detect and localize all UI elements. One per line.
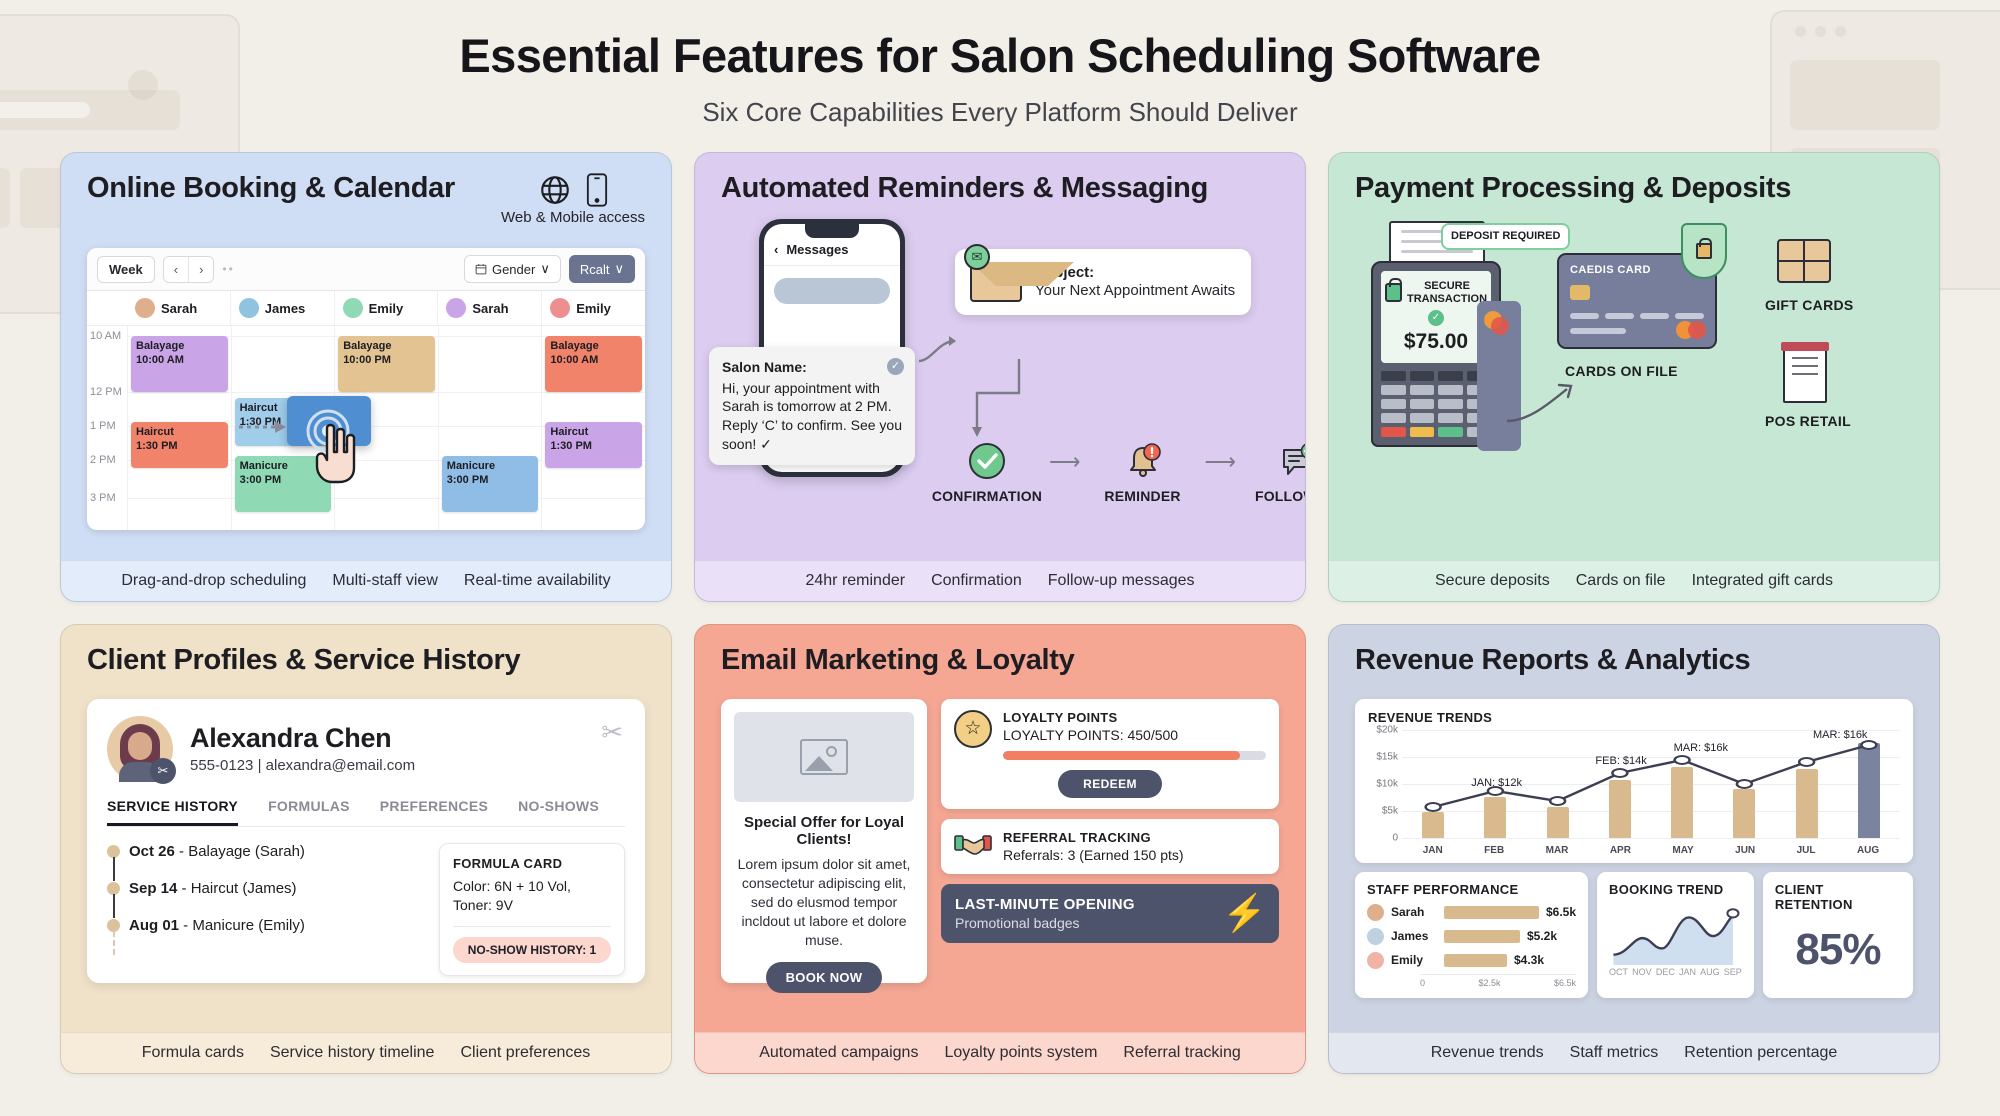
- axis-tick: AUG: [1700, 967, 1720, 977]
- mobile-phone-icon: [586, 173, 608, 207]
- y-tick: 0: [1392, 832, 1398, 843]
- event-time: 3:00 PM: [447, 474, 489, 486]
- event-time: 1:30 PM: [136, 440, 178, 452]
- card-body: Special Offer for Loyal Clients! Lorem i…: [695, 683, 1305, 1032]
- separator: |: [258, 757, 262, 774]
- client-phone: 555-0123: [190, 757, 253, 774]
- time-label: 1 PM: [90, 420, 116, 432]
- chevron-down-icon: ∨: [540, 261, 550, 277]
- card-footer: 24hr reminder Confirmation Follow-up mes…: [695, 560, 1305, 601]
- redeem-button[interactable]: REDEEM: [1058, 770, 1162, 798]
- secure-transaction-label: SECURE TRANSACTION: [1407, 280, 1487, 305]
- connector-arrow-down-icon: [963, 359, 1023, 445]
- flow-step-confirmation: CONFIRMATION: [941, 441, 1033, 504]
- y-tick: $5k: [1382, 805, 1398, 816]
- footer-tag: Referral tracking: [1123, 1044, 1240, 1062]
- next-button[interactable]: ›: [188, 257, 213, 282]
- tab-service-history[interactable]: SERVICE HISTORY: [107, 798, 238, 826]
- x-tick: AUG: [1857, 845, 1879, 856]
- axis-tick: SEP: [1724, 967, 1742, 977]
- x-tick: APR: [1610, 845, 1631, 856]
- axis-tick: NOV: [1632, 967, 1652, 977]
- calendar-staff-header: Sarah James Emily Sarah Emily: [87, 291, 645, 326]
- referral-subtitle: Referrals: 3 (Earned 150 pts): [1003, 847, 1266, 863]
- footer-tag: Client preferences: [460, 1044, 590, 1062]
- tab-preferences[interactable]: PREFERENCES: [380, 798, 488, 826]
- card-title: Client Profiles & Service History: [87, 645, 520, 677]
- card-footer: Automated campaigns Loyalty points syste…: [695, 1032, 1305, 1073]
- avatar: [446, 298, 466, 318]
- booking-trend-widget: BOOKING TREND OCT NOV DEC: [1597, 872, 1754, 998]
- footer-tag: Service history timeline: [270, 1044, 435, 1062]
- feature-card-automated-reminders: Automated Reminders & Messaging ‹ Messag…: [694, 152, 1306, 602]
- axis-tick: JAN: [1679, 967, 1696, 977]
- pos-receipt-icon: [1783, 349, 1827, 403]
- staff-value: $5.2k: [1527, 929, 1557, 943]
- feature-card-revenue-analytics: Revenue Reports & Analytics REVENUE TREN…: [1328, 624, 1940, 1074]
- avatar: [1367, 952, 1384, 969]
- realt-label: Rcalt: [580, 262, 610, 277]
- event-time: 10:00 AM: [550, 354, 598, 366]
- calendar-widget: Week ‹ › •• Gender ∨ Rcalt ∨: [87, 248, 645, 530]
- flow-label: FOLLOW-UP: [1255, 488, 1305, 504]
- card-header: Email Marketing & Loyalty: [695, 625, 1305, 683]
- message-bubble-placeholder: [774, 278, 890, 304]
- x-tick: MAY: [1672, 845, 1693, 856]
- flow-label: CONFIRMATION: [932, 488, 1042, 504]
- prev-button[interactable]: ‹: [164, 257, 188, 282]
- calendar-column: Balayage 10:00 AM Haircut 1:30 PM: [541, 326, 645, 530]
- card-body: Week ‹ › •• Gender ∨ Rcalt ∨: [61, 232, 671, 560]
- staff-column-3[interactable]: Sarah: [437, 291, 541, 325]
- client-name: Alexandra Chen: [190, 723, 415, 754]
- time-label: 2 PM: [90, 454, 116, 466]
- sms-delivered-icon: ✓: [887, 358, 904, 375]
- footer-tag: Multi-staff view: [332, 572, 438, 590]
- green-check-badge-icon: [967, 441, 1007, 481]
- calendar-nav[interactable]: ‹ ›: [163, 256, 215, 283]
- card-header: Automated Reminders & Messaging: [695, 153, 1305, 211]
- footer-tag: Drag-and-drop scheduling: [121, 572, 306, 590]
- realt-dropdown[interactable]: Rcalt ∨: [569, 255, 635, 283]
- cards-on-file-label: CARDS ON FILE: [1565, 363, 1678, 379]
- access-icons: Web & Mobile access: [501, 173, 645, 226]
- service-history-timeline: Oct 26 - Balayage (Sarah) Sep 14 - Hairc…: [107, 843, 419, 976]
- footer-tag: Revenue trends: [1431, 1044, 1544, 1062]
- event-time: 3:00 PM: [240, 474, 282, 486]
- email-body: Lorem ipsum dolor sit amet, consectetur …: [734, 855, 914, 950]
- footer-tag: Loyalty points system: [944, 1044, 1097, 1062]
- widget-title: BOOKING TREND: [1609, 882, 1742, 897]
- sms-sender: Salon Name:: [722, 358, 902, 377]
- star-coin-icon: ☆: [954, 710, 992, 748]
- calendar-event[interactable]: Balayage 10:00 PM: [338, 336, 435, 392]
- retention-value: 85%: [1775, 925, 1901, 975]
- footer-tag: Follow-up messages: [1048, 572, 1195, 590]
- calendar-column: Balayage 10:00 AM Haircut 1:30 PM: [127, 326, 231, 530]
- footer-tag: Automated campaigns: [759, 1044, 918, 1062]
- swiped-card-graphic: [1477, 301, 1521, 451]
- no-show-history-badge: NO-SHOW HISTORY: 1: [453, 937, 611, 963]
- chat-check-icon: [1278, 441, 1305, 481]
- event-time: 1:30 PM: [550, 440, 592, 452]
- connector-arrow-icon: [917, 331, 963, 365]
- staff-name: Emily: [1391, 953, 1437, 967]
- page-title: Essential Features for Salon Scheduling …: [0, 28, 2000, 83]
- revenue-trends-chart: REVENUE TRENDS 0 $5k $10k $15k $20k: [1355, 699, 1913, 863]
- timeline-date: Aug 01: [129, 917, 179, 934]
- tab-formulas[interactable]: FORMULAS: [268, 798, 350, 826]
- avatar: [239, 298, 259, 318]
- event-title: Balayage: [343, 340, 430, 354]
- x-tick: JUN: [1735, 845, 1755, 856]
- loyalty-progress-bar: [1003, 751, 1266, 760]
- lightning-bolt-icon: ⚡: [1222, 892, 1267, 934]
- x-tick: JAN: [1423, 845, 1443, 856]
- security-shield-icon: [1681, 223, 1727, 279]
- back-icon[interactable]: ‹: [774, 242, 778, 257]
- flow-arrow-icon: ⟶: [1205, 449, 1237, 475]
- staff-column-1[interactable]: James: [230, 291, 334, 325]
- gift-card-icon: [1777, 239, 1831, 283]
- chevron-down-icon: ∨: [614, 261, 624, 277]
- cursor-hand-icon: [312, 422, 362, 484]
- axis-tick: OCT: [1609, 967, 1628, 977]
- scissors-icon: ✂: [601, 717, 623, 748]
- calendar-event[interactable]: Balayage 10:00 AM: [131, 336, 228, 392]
- event-time: 10:00 PM: [343, 354, 391, 366]
- staff-name: Emily: [576, 301, 611, 316]
- footer-tag: Real-time availability: [464, 572, 611, 590]
- footer-tag: Staff metrics: [1570, 1044, 1659, 1062]
- referral-title: REFERRAL TRACKING: [1003, 830, 1266, 845]
- avatar: [550, 298, 570, 318]
- card-header: Revenue Reports & Analytics: [1329, 625, 1939, 683]
- card-header: Payment Processing & Deposits: [1329, 153, 1939, 211]
- staff-value: $4.3k: [1514, 953, 1544, 967]
- sms-message-card: Salon Name: Hi, your appointment with Sa…: [709, 347, 915, 465]
- event-title: Manicure: [447, 460, 534, 474]
- page-header: Essential Features for Salon Scheduling …: [0, 0, 2000, 128]
- sparkline-axis: OCT NOV DEC JAN AUG SEP: [1609, 967, 1742, 977]
- calendar-grid[interactable]: 10 AM 12 PM 1 PM 2 PM 3 PM Balayage 10:0…: [87, 326, 645, 530]
- scissors-badge-icon: ✂: [150, 758, 176, 784]
- axis-tick: 0: [1420, 978, 1425, 988]
- sms-body: Hi, your appointment with Sarah is tomor…: [722, 380, 902, 452]
- footer-tag: 24hr reminder: [805, 572, 905, 590]
- staff-column-0[interactable]: Sarah: [127, 291, 230, 325]
- staff-row: Sarah $6.5k: [1367, 904, 1576, 921]
- card-chip-icon: [1570, 285, 1590, 300]
- toolbar-dots: ••: [222, 262, 234, 276]
- formula-card: FORMULA CARD Color: 6N + 10 Vol, Toner: …: [439, 843, 625, 976]
- footer-tag: Retention percentage: [1684, 1044, 1837, 1062]
- timeline-detail: - Haircut (James): [177, 880, 296, 897]
- widget-title: STAFF PERFORMANCE: [1367, 882, 1576, 897]
- lock-icon: [1385, 283, 1402, 302]
- card-title: Payment Processing & Deposits: [1355, 173, 1791, 205]
- event-title: Balayage: [550, 340, 637, 354]
- timeline-item[interactable]: Aug 01 - Manicure (Emily): [129, 917, 419, 934]
- x-tick: JUL: [1797, 845, 1816, 856]
- client-email: alexandra@email.com: [266, 757, 415, 774]
- image-placeholder: [734, 712, 914, 802]
- staff-column-2[interactable]: Emily: [334, 291, 438, 325]
- bell-alert-icon: [1123, 441, 1163, 481]
- calendar-column: Manicure 3:00 PM: [438, 326, 542, 530]
- feature-card-grid: Online Booking & Calendar Web & Mobile a…: [0, 128, 2000, 1074]
- timeline-detail: - Manicure (Emily): [179, 917, 305, 934]
- formula-card-title: FORMULA CARD: [453, 856, 611, 871]
- pos-retail-label: POS RETAIL: [1765, 413, 1851, 429]
- card-title: Automated Reminders & Messaging: [721, 173, 1208, 205]
- loyalty-title: LOYALTY POINTS: [1003, 710, 1266, 725]
- flow-step-followup: FOLLOW-UP: [1252, 441, 1305, 504]
- chart-annotation: MAR: $16k: [1813, 729, 1867, 741]
- promo-subtitle: Promotional badges: [955, 915, 1265, 931]
- staff-name: Sarah: [1391, 905, 1437, 919]
- messages-title: Messages: [786, 242, 848, 257]
- terminal-keypad[interactable]: [1381, 371, 1491, 437]
- avatar: [1367, 928, 1384, 945]
- sparkline-chart: [1609, 903, 1742, 965]
- staff-row: Emily $4.3k: [1367, 952, 1576, 969]
- deposit-required-badge: DEPOSIT REQUIRED: [1441, 223, 1570, 250]
- calendar-event[interactable]: Haircut 1:30 PM: [131, 422, 228, 468]
- flow-arrow-icon: [1505, 379, 1585, 425]
- timeline-detail: - Balayage (Sarah): [175, 843, 305, 860]
- plot-area: JAN: $12k FEB: $14k MAR: $16k MAR: $16k: [1402, 730, 1900, 838]
- footer-tag: Confirmation: [931, 572, 1022, 590]
- event-title: Haircut: [550, 426, 637, 440]
- card-header: Online Booking & Calendar Web & Mobile a…: [61, 153, 671, 232]
- promo-title: LAST-MINUTE OPENING: [955, 896, 1265, 913]
- card-header: Client Profiles & Service History: [61, 625, 671, 683]
- x-tick: MAR: [1546, 845, 1569, 856]
- client-contact: 555-0123 | alexandra@email.com: [190, 757, 415, 774]
- calendar-icon: [475, 263, 487, 275]
- view-week-button[interactable]: Week: [97, 256, 155, 283]
- tab-no-shows[interactable]: NO-SHOWS: [518, 798, 599, 826]
- gift-cards-label: GIFT CARDS: [1765, 297, 1854, 313]
- staff-column-4[interactable]: Emily: [541, 291, 645, 325]
- email-subject-card: ✉ Subject: Your Next Appointment Awaits: [955, 249, 1251, 315]
- formula-line-2: Toner: 9V: [453, 896, 611, 915]
- calendar-event[interactable]: Manicure 3:00 PM: [442, 456, 539, 512]
- staff-name: Sarah: [161, 301, 197, 316]
- axis-tick: $2.5k: [1478, 978, 1500, 988]
- event-title: Balayage: [136, 340, 223, 354]
- feature-card-email-marketing: Email Marketing & Loyalty Special Offer …: [694, 624, 1306, 1074]
- chart-annotation: FEB: $14k: [1595, 755, 1646, 767]
- time-label: 3 PM: [90, 492, 116, 504]
- loyalty-subtitle: LOYALTY POINTS: 450/500: [1003, 727, 1266, 743]
- timeline-date: Sep 14: [129, 880, 177, 897]
- calendar-toolbar: Week ‹ › •• Gender ∨ Rcalt ∨: [87, 248, 645, 291]
- phone-notch: [805, 224, 859, 238]
- envelope-icon: ✉: [970, 262, 1022, 302]
- event-title: Haircut: [136, 426, 223, 440]
- check-icon: ✓: [1428, 310, 1444, 326]
- terminal-screen: SECURE TRANSACTION ✓ $75.00: [1381, 271, 1491, 363]
- message-flow: CONFIRMATION ⟶ REMINDER ⟶: [941, 441, 1305, 504]
- feature-card-client-profiles: Client Profiles & Service History ✂ ✂ Al…: [60, 624, 672, 1074]
- gender-filter-label: Gender: [492, 262, 535, 277]
- axis-tick: $6.5k: [1554, 978, 1576, 988]
- promo-badge-widget: LAST-MINUTE OPENING Promotional badges ⚡: [941, 884, 1279, 943]
- time-label: 10 AM: [90, 330, 121, 342]
- card-footer: Formula cards Service history timeline C…: [61, 1032, 671, 1073]
- feature-card-online-booking: Online Booking & Calendar Web & Mobile a…: [60, 152, 672, 602]
- email-badge-icon: ✉: [964, 244, 990, 270]
- staff-name: James: [265, 301, 305, 316]
- drag-arrow-icon: [239, 420, 289, 434]
- book-now-button[interactable]: BOOK NOW: [766, 962, 883, 993]
- page-subtitle: Six Core Capabilities Every Platform Sho…: [0, 97, 2000, 128]
- avatar: [1367, 904, 1384, 921]
- card-footer: Revenue trends Staff metrics Retention p…: [1329, 1032, 1939, 1073]
- flow-arrow-icon: ⟶: [1049, 449, 1081, 475]
- email-heading: Special Offer for Loyal Clients!: [734, 814, 914, 848]
- formula-line-1: Color: 6N + 10 Vol,: [453, 877, 611, 896]
- staff-name: Emily: [369, 301, 404, 316]
- staff-axis: 0 $2.5k $6.5k: [1420, 974, 1576, 988]
- timeline-date: Oct 26: [129, 843, 175, 860]
- staff-performance-widget: STAFF PERFORMANCE Sarah $6.5k James $5.2…: [1355, 872, 1588, 998]
- footer-tag: Integrated gift cards: [1692, 572, 1833, 590]
- handshake-icon: [954, 830, 992, 860]
- chart-area: 0 $5k $10k $15k $20k: [1368, 730, 1900, 856]
- calendar-time-axis: 10 AM 12 PM 1 PM 2 PM 3 PM: [87, 326, 127, 530]
- card-title: Email Marketing & Loyalty: [721, 645, 1075, 677]
- card-footer: Drag-and-drop scheduling Multi-staff vie…: [61, 560, 671, 601]
- event-time: 10:00 AM: [136, 354, 184, 366]
- client-profile-card: ✂ ✂ Alexandra Chen 555-0123 | alexandra@…: [87, 699, 645, 983]
- card-title: Revenue Reports & Analytics: [1355, 645, 1750, 677]
- card-footer: Secure deposits Cards on file Integrated…: [1329, 560, 1939, 601]
- mastercard-logo-icon: [1676, 321, 1706, 339]
- staff-value: $6.5k: [1546, 905, 1576, 919]
- timeline-item[interactable]: Oct 26 - Balayage (Sarah): [129, 843, 419, 860]
- x-tick: FEB: [1484, 845, 1504, 856]
- card-body: REVENUE TRENDS 0 $5k $10k $15k $20k: [1329, 683, 1939, 1032]
- card-body: ✂ ✂ Alexandra Chen 555-0123 | alexandra@…: [61, 683, 671, 1032]
- avatar: ✂: [107, 716, 173, 782]
- gender-filter-dropdown[interactable]: Gender ∨: [464, 255, 561, 283]
- widget-title: CLIENT RETENTION: [1775, 882, 1901, 912]
- globe-icon: [538, 173, 572, 207]
- calendar-columns: Balayage 10:00 AM Haircut 1:30 PM Haircu…: [127, 326, 645, 530]
- chart-annotation: MAR: $16k: [1674, 742, 1728, 754]
- y-tick: $15k: [1376, 751, 1398, 762]
- footer-tag: Secure deposits: [1435, 572, 1550, 590]
- client-retention-widget: CLIENT RETENTION 85%: [1763, 872, 1913, 998]
- staff-name: James: [1391, 929, 1437, 943]
- calendar-event[interactable]: Balayage 10:00 AM: [545, 336, 642, 392]
- avatar: [343, 298, 363, 318]
- image-placeholder-icon: [800, 739, 848, 775]
- y-tick: $20k: [1376, 724, 1398, 735]
- card-body: ‹ Messages Salon Name: Hi, your appointm…: [695, 211, 1305, 560]
- y-axis: 0 $5k $10k $15k $20k: [1368, 730, 1402, 838]
- sparkline-svg: [1609, 903, 1742, 965]
- calendar-event[interactable]: Haircut 1:30 PM: [545, 422, 642, 468]
- x-axis: JAN FEB MAR APR MAY JUN JUL AUG: [1402, 845, 1900, 856]
- y-tick: $10k: [1376, 778, 1398, 789]
- card-title: Online Booking & Calendar: [87, 173, 455, 205]
- chart-title: REVENUE TRENDS: [1368, 710, 1900, 725]
- axis-tick: DEC: [1656, 967, 1675, 977]
- staff-name: Sarah: [472, 301, 508, 316]
- flow-label: REMINDER: [1104, 488, 1180, 504]
- loyalty-points-widget: ☆ LOYALTY POINTS LOYALTY POINTS: 450/500…: [941, 699, 1279, 809]
- time-label: 12 PM: [90, 386, 122, 398]
- timeline-item[interactable]: Sep 14 - Haircut (James): [129, 880, 419, 897]
- card-body: SECURE TRANSACTION ✓ $75.00 DEPOSIT REQU…: [1329, 211, 1939, 560]
- referral-tracking-widget: REFERRAL TRACKING Referrals: 3 (Earned 1…: [941, 819, 1279, 874]
- flow-step-reminder: REMINDER: [1097, 441, 1189, 504]
- profile-tabs: SERVICE HISTORY FORMULAS PREFERENCES NO-…: [107, 798, 625, 827]
- access-caption: Web & Mobile access: [501, 209, 645, 226]
- transaction-amount: $75.00: [1387, 330, 1485, 354]
- footer-tag: Formula cards: [142, 1044, 244, 1062]
- email-preview-card: Special Offer for Loyal Clients! Lorem i…: [721, 699, 927, 983]
- avatar: [135, 298, 155, 318]
- chart-annotation: JAN: $12k: [1471, 777, 1522, 789]
- feature-card-payment-processing: Payment Processing & Deposits SECURE TRA…: [1328, 152, 1940, 602]
- staff-row: James $5.2k: [1367, 928, 1576, 945]
- footer-tag: Cards on file: [1576, 572, 1666, 590]
